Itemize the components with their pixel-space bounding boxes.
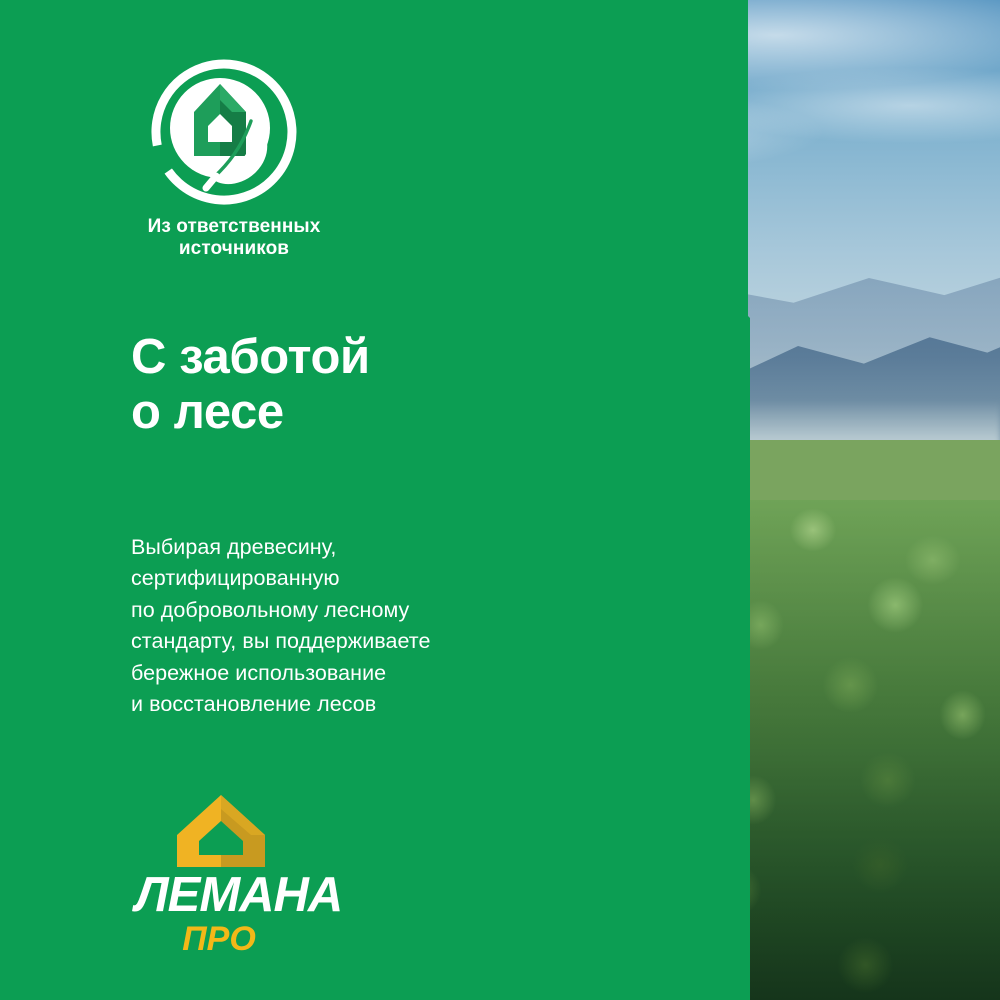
headline: С заботой о лесе — [131, 330, 370, 440]
body-line-4: стандарту, вы поддерживаете — [131, 626, 430, 657]
body-line-5: бережное использование — [131, 658, 430, 689]
responsible-sources-badge: Из ответственных источников — [128, 58, 368, 260]
lemana-house-icon — [169, 793, 277, 867]
body-copy: Выбирая древесину, сертифицированную по … — [131, 532, 430, 720]
eco-caption-line-2: источников — [128, 238, 340, 260]
body-line-2: сертифицированную — [131, 563, 430, 594]
brand-suffix: ПРО — [135, 922, 303, 956]
body-line-1: Выбирая древесину, — [131, 532, 430, 563]
headline-line-1: С заботой — [131, 330, 370, 385]
body-line-3: по добровольному лесному — [131, 595, 430, 626]
responsible-sources-caption: Из ответственных источников — [128, 216, 340, 260]
poster: Из ответственных источников С заботой о … — [0, 0, 1000, 1000]
headline-line-2: о лесе — [131, 385, 370, 440]
poster-content: Из ответственных источников С заботой о … — [0, 0, 1000, 1000]
eco-caption-line-1: Из ответственных — [128, 216, 340, 238]
lemana-pro-wordmark: ЛЕМАНА ПРО — [135, 871, 385, 956]
body-line-6: и восстановление лесов — [131, 689, 430, 720]
lemana-pro-logo: ЛЕМАНА ПРО — [135, 793, 385, 956]
brand-name: ЛЕМАНА — [135, 871, 385, 920]
responsible-sources-seal-icon — [150, 58, 298, 206]
